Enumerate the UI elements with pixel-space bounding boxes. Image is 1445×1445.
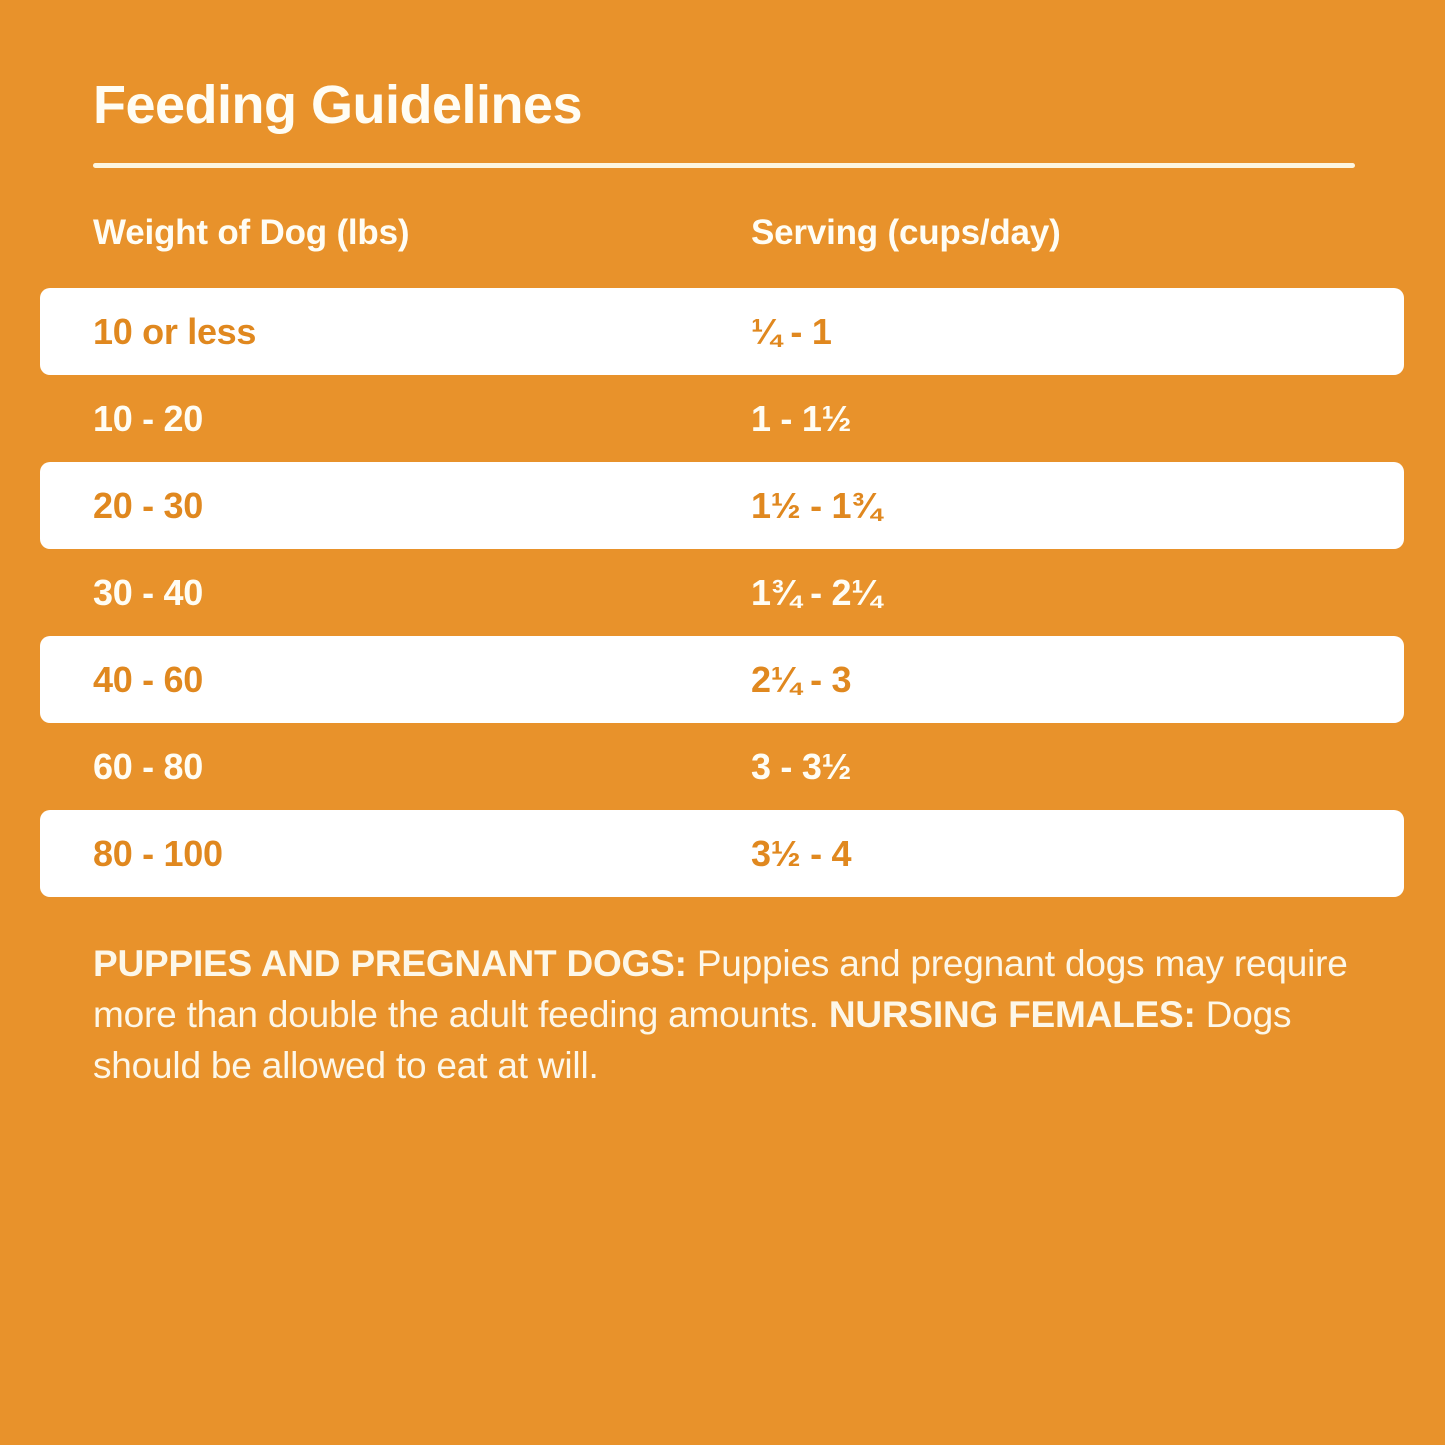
feeding-table: 10 or less ¼ - 1 10 - 20 1 - 1½ 20 - 30 … <box>0 288 1445 897</box>
cell-weight: 40 - 60 <box>93 659 203 701</box>
cell-weight: 20 - 30 <box>93 485 203 527</box>
page-title: Feeding Guidelines <box>93 78 582 132</box>
table-row: 60 - 80 3 - 3½ <box>0 723 1445 810</box>
nursing-label: NURSING FEMALES: <box>829 994 1196 1035</box>
cell-serving: 3 - 3½ <box>751 746 851 788</box>
table-row: 10 or less ¼ - 1 <box>40 288 1404 375</box>
table-row: 10 - 20 1 - 1½ <box>0 375 1445 462</box>
column-header-weight: Weight of Dog (lbs) <box>93 213 409 253</box>
puppies-label: PUPPIES AND PREGNANT DOGS: <box>93 943 687 984</box>
title-divider <box>93 163 1355 168</box>
cell-serving: 1½ - 1¾ <box>751 485 881 527</box>
cell-weight: 10 or less <box>93 311 256 353</box>
table-row: 20 - 30 1½ - 1¾ <box>40 462 1404 549</box>
feeding-notes: PUPPIES AND PREGNANT DOGS: Puppies and p… <box>93 938 1368 1091</box>
cell-serving: 2¼ - 3 <box>751 659 851 701</box>
cell-serving: ¼ - 1 <box>751 311 832 353</box>
cell-serving: 1 - 1½ <box>751 398 851 440</box>
feeding-guidelines-panel: Feeding Guidelines Weight of Dog (lbs) S… <box>0 0 1445 1445</box>
table-row: 80 - 100 3½ - 4 <box>40 810 1404 897</box>
cell-serving: 3½ - 4 <box>751 833 851 875</box>
table-row: 40 - 60 2¼ - 3 <box>40 636 1404 723</box>
table-column-headers: Weight of Dog (lbs) Serving (cups/day) <box>0 213 1445 267</box>
cell-weight: 60 - 80 <box>93 746 203 788</box>
cell-serving: 1¾ - 2¼ <box>751 572 881 614</box>
column-header-serving: Serving (cups/day) <box>751 213 1061 253</box>
cell-weight: 80 - 100 <box>93 833 223 875</box>
cell-weight: 10 - 20 <box>93 398 203 440</box>
table-row: 30 - 40 1¾ - 2¼ <box>0 549 1445 636</box>
cell-weight: 30 - 40 <box>93 572 203 614</box>
